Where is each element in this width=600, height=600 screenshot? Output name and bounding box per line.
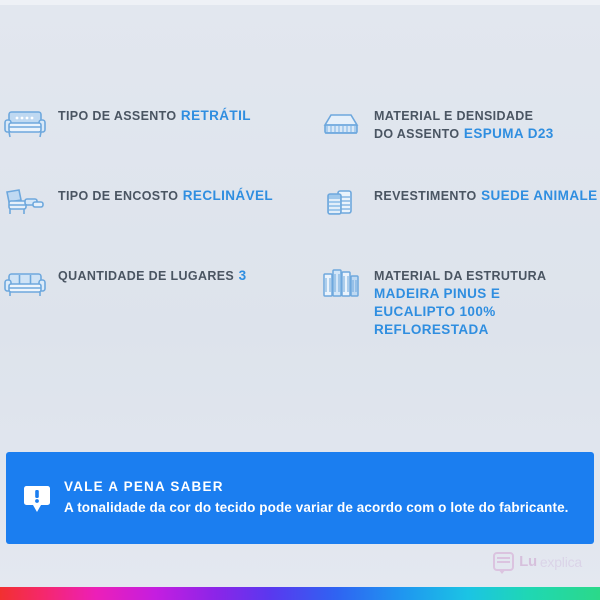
recliner-chair-icon — [2, 182, 48, 224]
product-specs-panel: TIPO DE ASSENTO RETRÁTIL — [0, 0, 600, 600]
spec-grid: TIPO DE ASSENTO RETRÁTIL — [0, 96, 600, 336]
spec-text: QUANTIDADE DE LUGARES 3 — [58, 262, 246, 285]
spec-item-seat-material: MATERIAL E DENSIDADE DO ASSENTO ESPUMA D… — [300, 96, 600, 176]
watermark-suffix: explica — [540, 554, 582, 570]
spec-item-backrest-type: TIPO DE ENCOSTO RECLINÁVEL — [0, 176, 300, 256]
bubble-line-2 — [497, 561, 510, 563]
spec-value: SUEDE ANIMALE — [481, 188, 597, 203]
spec-text: MATERIAL E DENSIDADE DO ASSENTO ESPUMA D… — [374, 102, 554, 143]
three-seat-sofa-icon — [2, 262, 48, 304]
spec-value: MADEIRA PINUS E EUCALIPTO 100% REFLOREST… — [374, 286, 500, 337]
spec-item-seat-count: QUANTIDADE DE LUGARES 3 — [0, 256, 300, 336]
spec-label: TIPO DE ASSENTO — [58, 109, 176, 123]
chat-bubble-icon — [493, 552, 514, 571]
spec-value: RETRÁTIL — [181, 108, 251, 123]
banner-text: VALE A PENA SABER A tonalidade da cor do… — [64, 478, 569, 519]
spec-label: QUANTIDADE DE LUGARES — [58, 269, 234, 283]
spec-text: REVESTIMENTO SUEDE ANIMALE — [374, 182, 598, 205]
spec-item-upholstery: REVESTIMENTO SUEDE ANIMALE — [300, 176, 600, 256]
banner-title: VALE A PENA SABER — [64, 478, 569, 495]
fabric-swatch-icon — [318, 182, 364, 224]
wood-planks-icon — [318, 262, 364, 304]
banner-body: A tonalidade da cor do tecido pode varia… — [64, 498, 569, 517]
spec-item-frame-material: MATERIAL DA ESTRUTURA MADEIRA PINUS E EU… — [300, 256, 600, 336]
spec-text: MATERIAL DA ESTRUTURA MADEIRA PINUS E EU… — [374, 262, 600, 339]
sofa-retractable-icon — [2, 102, 48, 144]
spec-label: MATERIAL DA ESTRUTURA — [374, 269, 546, 283]
spec-item-seat-type: TIPO DE ASSENTO RETRÁTIL — [0, 96, 300, 176]
spec-label: TIPO DE ENCOSTO — [58, 189, 178, 203]
spec-value: ESPUMA D23 — [464, 126, 554, 141]
spec-value: 3 — [239, 268, 247, 283]
lu-explica-watermark: Lu explica — [493, 552, 582, 571]
top-edge-strip — [0, 0, 600, 5]
exclamation-bubble-icon — [20, 481, 54, 515]
rainbow-gradient-bar — [0, 587, 600, 600]
spec-value: RECLINÁVEL — [183, 188, 273, 203]
spec-text: TIPO DE ASSENTO RETRÁTIL — [58, 102, 251, 125]
spec-label: REVESTIMENTO — [374, 189, 477, 203]
spec-text: TIPO DE ENCOSTO RECLINÁVEL — [58, 182, 273, 205]
bubble-line-1 — [497, 557, 510, 559]
worth-knowing-banner: VALE A PENA SABER A tonalidade da cor do… — [6, 452, 594, 544]
foam-mattress-icon — [318, 102, 364, 144]
watermark-brand: Lu — [519, 553, 537, 570]
